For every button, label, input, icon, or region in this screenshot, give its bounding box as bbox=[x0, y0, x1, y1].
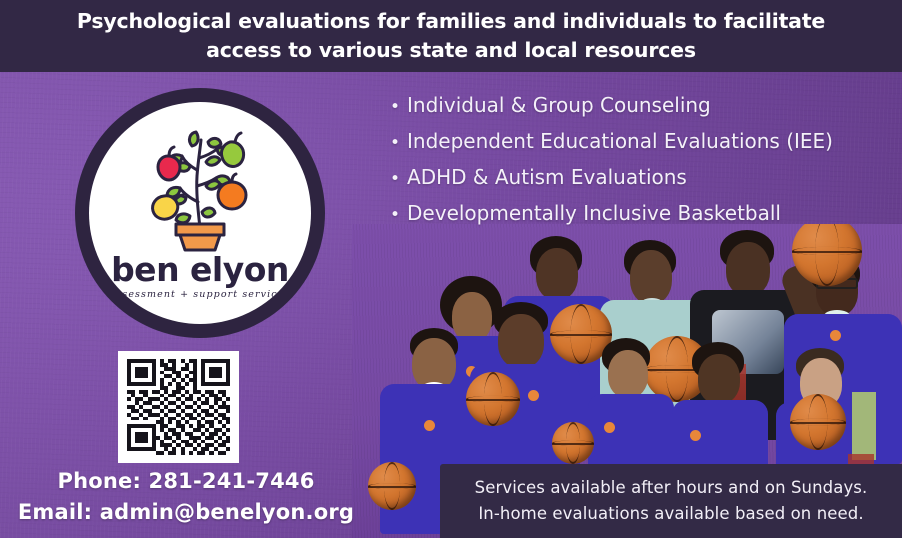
header-banner: Psychological evaluations for families a… bbox=[0, 0, 902, 72]
flyer-canvas: Psychological evaluations for families a… bbox=[0, 0, 902, 538]
bullet-dot-icon: • bbox=[390, 126, 400, 160]
basketball-front-2 bbox=[552, 422, 594, 464]
header-line-1: Psychological evaluations for families a… bbox=[77, 7, 825, 36]
logo-wordmark: ben elyon bbox=[111, 253, 289, 287]
logo-tagline: assessment + support services bbox=[110, 289, 291, 300]
service-item-3-label: ADHD & Autism Evaluations bbox=[407, 160, 687, 194]
header-line-2: access to various state and local resour… bbox=[206, 36, 696, 65]
logo-disc: ben elyon assessment + support services bbox=[89, 102, 311, 324]
bullet-dot-icon: • bbox=[390, 90, 400, 124]
qr-code-matrix bbox=[127, 359, 230, 455]
footer-line-1: Services available after hours and on Su… bbox=[475, 475, 868, 501]
basketball-front-4 bbox=[790, 394, 846, 450]
bullet-dot-icon: • bbox=[390, 162, 400, 196]
footer-line-2: In-home evaluations available based on n… bbox=[478, 501, 863, 527]
service-item-4: • Developmentally Inclusive Basketball bbox=[390, 196, 890, 232]
footer-note: Services available after hours and on Su… bbox=[440, 464, 902, 538]
service-item-2: • Independent Educational Evaluations (I… bbox=[390, 124, 890, 160]
bullet-dot-icon: • bbox=[390, 198, 400, 232]
potted-fruit-tree-icon bbox=[140, 124, 260, 252]
email-line[interactable]: Email: admin@benelyon.org bbox=[0, 497, 372, 528]
service-item-4-label: Developmentally Inclusive Basketball bbox=[407, 196, 781, 230]
photo-side-object bbox=[852, 392, 876, 460]
service-item-3: • ADHD & Autism Evaluations bbox=[390, 160, 890, 196]
qr-code[interactable] bbox=[118, 351, 239, 463]
service-item-1-label: Individual & Group Counseling bbox=[407, 88, 711, 122]
basketball-front-lowleft bbox=[368, 462, 416, 510]
brand-logo: ben elyon assessment + support services bbox=[75, 88, 325, 338]
basketball-front-1 bbox=[466, 372, 520, 426]
contact-block: Phone: 281-241-7446 Email: admin@benelyo… bbox=[0, 466, 372, 528]
services-list: • Individual & Group Counseling • Indepe… bbox=[390, 88, 890, 232]
service-item-1: • Individual & Group Counseling bbox=[390, 88, 890, 124]
service-item-2-label: Independent Educational Evaluations (IEE… bbox=[407, 124, 833, 158]
phone-line[interactable]: Phone: 281-241-7446 bbox=[0, 466, 372, 497]
